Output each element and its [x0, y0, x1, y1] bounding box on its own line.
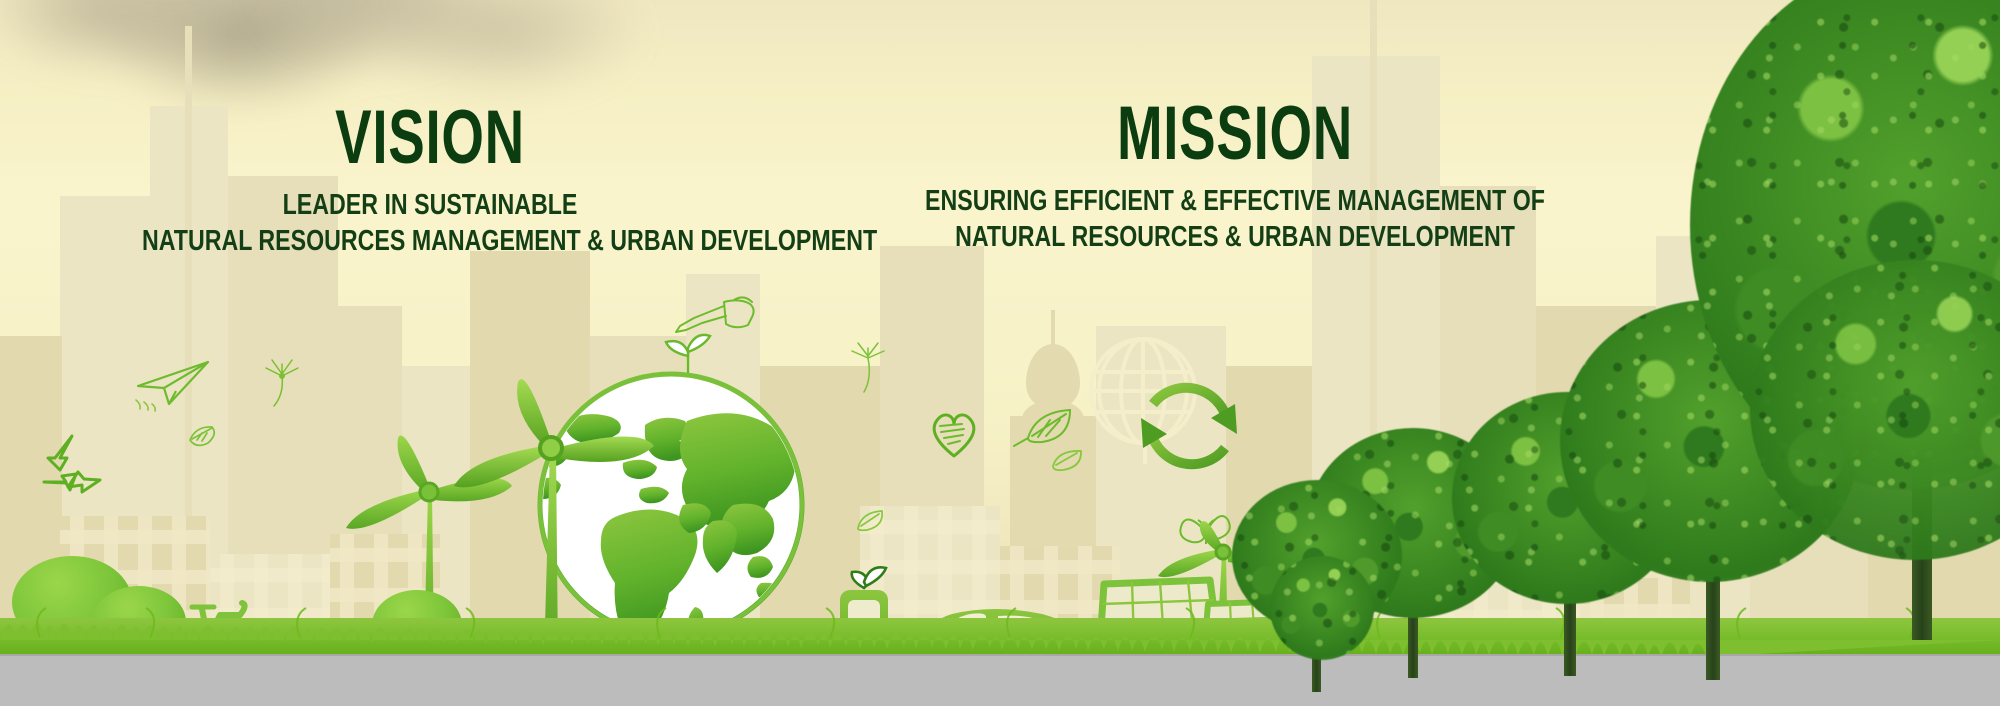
road	[0, 656, 2000, 706]
mission-block: MISSION ENSURING EFFICIENT & EFFECTIVE M…	[640, 98, 1830, 256]
vision-mission-banner: VISION LEADER IN SUSTAINABLE NATURAL RES…	[0, 0, 2000, 706]
mission-title: MISSION	[807, 98, 1664, 170]
leaf-sketch-icon	[188, 424, 222, 446]
vision-line-2: NATURAL RESOURCES MANAGEMENT & URBAN DEV…	[142, 224, 718, 260]
leaf-sketch-icon-pair	[1012, 406, 1074, 448]
watering-can-icon	[672, 296, 770, 342]
recycle-arrows-icon	[1133, 370, 1245, 482]
leaf-sketch-icon-left	[856, 508, 886, 532]
grass-tufts	[0, 596, 2000, 640]
mission-line-2: NATURAL RESOURCES & URBAN DEVELOPMENT	[759, 220, 1711, 256]
vision-line-1: LEADER IN SUSTAINABLE	[142, 188, 718, 224]
dandelion-icon	[258, 356, 320, 416]
paper-plane-icon	[136, 360, 214, 412]
recycle-icon	[36, 430, 108, 504]
leaf-sketch-icon-small	[1050, 448, 1084, 472]
heart-leaf-icon	[928, 408, 980, 460]
dandelion-icon-right	[848, 338, 902, 396]
mission-line-1: ENSURING EFFICIENT & EFFECTIVE MANAGEMEN…	[759, 184, 1711, 220]
vision-title: VISION	[171, 102, 689, 174]
